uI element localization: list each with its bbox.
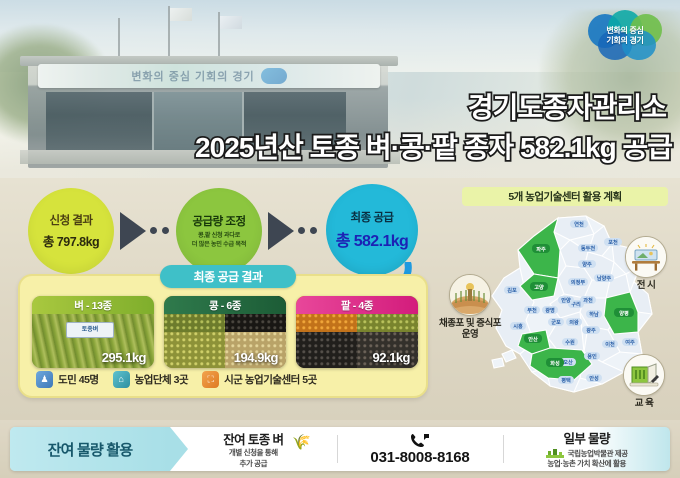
footer-label: 잔여 물량 활용 — [10, 427, 170, 471]
building-sign-badge — [261, 68, 287, 84]
infographic-page: 변화의 중심 기회의 경기 변화의 중심 기회의 경기 경기도종자관리소 202… — [0, 0, 680, 478]
footer-bar: 잔여 물량 활용 잔여 토종 벼 개별 신청을 통해 추가 공급 🌾 031-8… — [10, 427, 670, 471]
education-icon — [623, 354, 665, 396]
svg-text:동두천: 동두천 — [581, 244, 596, 252]
flow-arrow-1-icon — [120, 212, 146, 250]
svg-text:광주: 광주 — [586, 326, 596, 334]
distribution-item-centers: ⛶ 시군 농업기술센터 5곳 — [202, 371, 317, 388]
svg-text:안산: 안산 — [528, 335, 538, 343]
svg-text:양주: 양주 — [582, 260, 592, 268]
map-title-banner: 5개 농업기술센터 활용 계획 — [462, 187, 668, 206]
flow-step2-label: 공급량 조정 — [192, 213, 245, 229]
svg-text:평택: 평택 — [561, 376, 571, 384]
gyeonggi-logo: 변화의 중심 기회의 경기 — [586, 8, 664, 64]
distribution-item-organizations: ⌂ 농업단체 3곳 — [113, 371, 189, 388]
seed-field-label: 채종포 및 증식포 운영 — [424, 318, 516, 341]
svg-text:과천: 과천 — [583, 296, 593, 304]
rice-field-tag: 토종벼 — [66, 322, 114, 338]
svg-text:고양: 고양 — [534, 283, 544, 291]
museum-icon — [546, 448, 564, 459]
crop-label-redbean: 팥 - 4종 — [296, 296, 418, 314]
flow-arrow-2-icon — [268, 212, 294, 250]
crop-list: 토종벼 벼 - 13종 295.1kg 콩 - 6종 194.9kg — [32, 296, 418, 368]
flag-1 — [170, 8, 192, 21]
education-label: 교 육 — [614, 398, 674, 409]
result-title-pill: 최종 공급 결과 — [160, 265, 296, 288]
page-subtitle: 2025년산 토종 벼·콩·팥 종자 582.1kg 공급 — [195, 126, 672, 166]
education-circle: 교 육 — [614, 354, 674, 409]
building-icon: ⌂ — [113, 371, 130, 388]
footer-item1-sub: 개별 신청을 통해 추가 공급 — [229, 448, 278, 468]
crop-amount-redbean: 92.1kg — [373, 350, 410, 365]
footer-label-text: 잔여 물량 활용 — [48, 439, 133, 460]
flow-dot-4-icon — [310, 227, 317, 234]
footer-item-museum: 일부 물량 국립농업박물관 제공 농업·농촌 가치 확산에 활용 — [503, 427, 670, 471]
exhibition-label: 전 시 — [618, 280, 674, 291]
building-sign: 변화의 중심 기회의 경기 — [38, 64, 380, 88]
svg-text:포천: 포천 — [608, 238, 618, 246]
result-title-text: 최종 공급 결과 — [194, 268, 263, 285]
footer-item3-sub: 국립농업박물관 제공 — [568, 449, 628, 459]
svg-text:하남: 하남 — [589, 310, 599, 318]
content-area: 신청 결과 총 797.8kg 공급량 조정 콩,팥 신청 과다로 더 많은 농… — [0, 178, 680, 420]
flow-step1-label: 신청 결과 — [49, 212, 92, 228]
flow-dot-3-icon — [298, 227, 305, 234]
svg-text:여주: 여주 — [625, 338, 635, 346]
svg-text:파주: 파주 — [536, 245, 546, 253]
svg-text:의왕: 의왕 — [569, 318, 579, 326]
svg-text:안양: 안양 — [561, 296, 571, 304]
distribution-row: ♟ 도민 45명 ⌂ 농업단체 3곳 ⛶ 시군 농업기술센터 5곳 — [36, 368, 418, 390]
svg-text:안성: 안성 — [589, 374, 599, 382]
flag-2 — [220, 16, 242, 29]
footer-item3-sub2: 농업·농촌 가치 확산에 활용 — [547, 459, 626, 469]
crop-label-bean: 콩 - 6종 — [164, 296, 286, 314]
crop-amount-bean: 194.9kg — [234, 350, 278, 365]
flow-step1-value: 총 797.8kg — [43, 231, 99, 250]
svg-text:연천: 연천 — [574, 220, 584, 228]
center-icon: ⛶ — [202, 371, 219, 388]
museum-row: 국립농업박물관 제공 — [546, 448, 628, 459]
svg-text:오산: 오산 — [563, 358, 573, 366]
logo-line-2: 기회의 경기 — [606, 36, 643, 46]
footer-item-residual-rice: 잔여 토종 벼 개별 신청을 통해 추가 공급 🌾 — [170, 427, 337, 471]
svg-text:이천: 이천 — [605, 340, 615, 348]
svg-text:광명: 광명 — [545, 306, 555, 314]
flow-step2-note: 콩,팥 신청 과다로 더 많은 농민 수급 목적 — [192, 232, 246, 249]
crop-card-bean: 콩 - 6종 194.9kg — [164, 296, 286, 368]
footer-phone-number[interactable]: 031-8008-8168 — [370, 449, 469, 466]
flow-dot-1-icon — [150, 227, 157, 234]
footer-item3-title: 일부 물량 — [563, 428, 609, 447]
footer-item1-title: 잔여 토종 벼 — [223, 429, 283, 448]
distribution-label-centers: 시군 농업기술센터 5곳 — [224, 372, 317, 387]
svg-text:화성: 화성 — [550, 359, 560, 367]
svg-text:양평: 양평 — [619, 309, 629, 317]
logo-text: 변화의 중심 기회의 경기 — [606, 26, 643, 46]
svg-text:부천: 부천 — [527, 306, 537, 314]
flow-step-adjustment: 공급량 조정 콩,팥 신청 과다로 더 많은 농민 수급 목적 — [176, 188, 262, 274]
svg-text:수원: 수원 — [565, 338, 575, 346]
exhibition-icon — [625, 236, 667, 278]
crop-amount-rice: 295.1kg — [102, 350, 146, 365]
exhibition-circle: 전 시 — [618, 236, 674, 291]
distribution-item-residents: ♟ 도민 45명 — [36, 371, 99, 388]
flow-step3-label: 최종 공급 — [350, 209, 393, 225]
seed-field-icon — [449, 274, 491, 316]
crop-card-redbean: 팥 - 4종 92.1kg — [296, 296, 418, 368]
person-icon: ♟ — [36, 371, 53, 388]
flow-step3-value: 총 582.1kg — [336, 227, 408, 251]
crop-card-rice: 토종벼 벼 - 13종 295.1kg — [32, 296, 154, 368]
svg-text:용인: 용인 — [587, 352, 597, 360]
wheat-icon: 🌾 — [292, 433, 311, 451]
crop-label-rice: 벼 - 13종 — [32, 296, 154, 314]
svg-text:의정부: 의정부 — [571, 278, 586, 286]
seed-field-circle: 채종포 및 증식포 운영 — [424, 274, 516, 341]
logo-line-1: 변화의 중심 — [606, 26, 643, 36]
footer-item-phone[interactable]: 031-8008-8168 — [337, 427, 504, 471]
distribution-label-residents: 도민 45명 — [58, 372, 99, 387]
svg-text:군포: 군포 — [551, 318, 561, 326]
distribution-label-organizations: 농업단체 3곳 — [135, 372, 189, 387]
flow-dot-2-icon — [162, 227, 169, 234]
svg-text:남양주: 남양주 — [597, 274, 612, 282]
result-panel: 최종 공급 결과 토종벼 벼 - 13종 295.1kg 콩 - 6종 — [18, 274, 428, 398]
phone-icon — [410, 433, 430, 448]
map-title-text: 5개 농업기술센터 활용 계획 — [508, 189, 621, 204]
building-sign-text: 변화의 중심 기회의 경기 — [131, 68, 254, 84]
footer: 잔여 물량 활용 잔여 토종 벼 개별 신청을 통해 추가 공급 🌾 031-8… — [0, 420, 680, 478]
hero-banner: 변화의 중심 기회의 경기 변화의 중심 기회의 경기 경기도종자관리소 202… — [0, 0, 680, 178]
page-title: 경기도종자관리소 — [468, 86, 666, 126]
flow-step-application: 신청 결과 총 797.8kg — [28, 188, 114, 274]
